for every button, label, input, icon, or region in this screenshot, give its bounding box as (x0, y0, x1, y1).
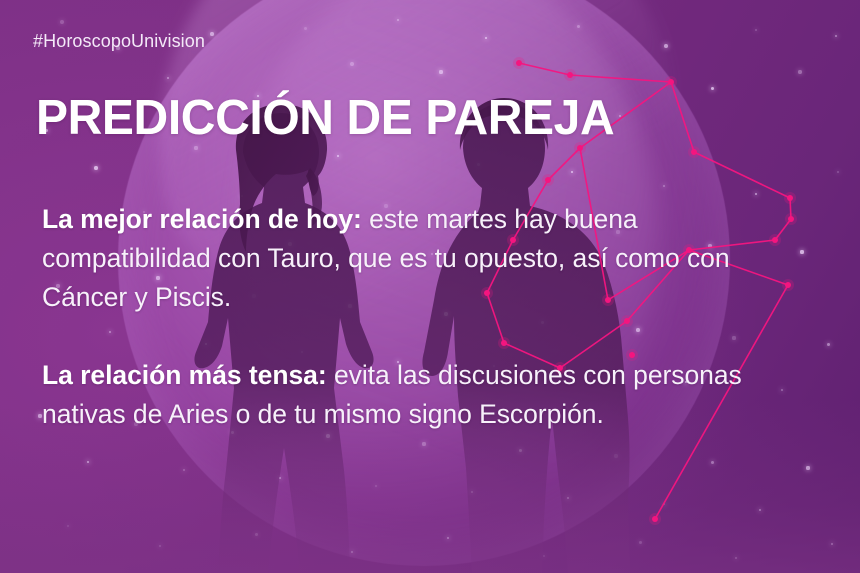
constellation-star (788, 216, 794, 222)
constellation-star (577, 145, 583, 151)
constellation-star (545, 177, 551, 183)
paragraph-tense-match: La relación más tensa: evita las discusi… (42, 356, 787, 434)
constellation-line (570, 75, 671, 82)
constellation-line (671, 82, 694, 152)
constellation-star (668, 79, 674, 85)
hashtag-label: #HoroscopoUnivision (33, 31, 205, 52)
constellation-star (691, 149, 697, 155)
constellation-line (694, 152, 790, 198)
constellation-star (652, 516, 658, 522)
page-title: PREDICCIÓN DE PAREJA (36, 92, 614, 144)
paragraph-best-match-label: La mejor relación de hoy: (42, 204, 362, 234)
constellation-line (548, 148, 580, 180)
constellation-line (519, 63, 570, 75)
constellation-star (787, 195, 793, 201)
horoscope-card: #HoroscopoUnivision PREDICCIÓN DE PAREJA… (0, 0, 860, 573)
paragraph-best-match: La mejor relación de hoy: este martes ha… (42, 200, 787, 317)
constellation-star (567, 72, 573, 78)
constellation-star (516, 60, 522, 66)
prediction-body: La mejor relación de hoy: este martes ha… (42, 200, 787, 434)
paragraph-tense-match-label: La relación más tensa: (42, 360, 327, 390)
